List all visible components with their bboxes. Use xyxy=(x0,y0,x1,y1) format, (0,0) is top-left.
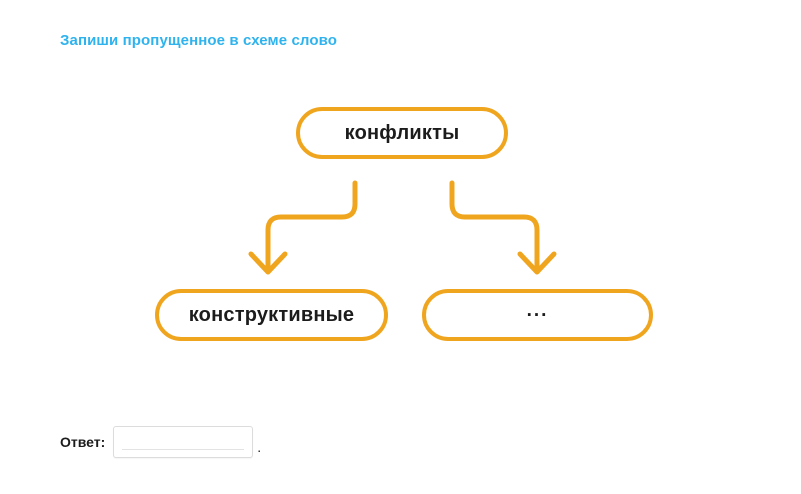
connector-arrows xyxy=(0,0,801,400)
scheme-diagram: конфликты конструктивные ... xyxy=(0,0,801,400)
diagram-node-root-label: конфликты xyxy=(345,122,460,145)
answer-input[interactable] xyxy=(114,427,252,457)
answer-label: Ответ: xyxy=(60,434,105,450)
arrow-path-left xyxy=(268,183,355,270)
diagram-node-child-2: ... xyxy=(422,289,653,341)
answer-row: Ответ: . xyxy=(60,425,261,459)
answer-input-wrapper[interactable] xyxy=(113,426,253,458)
diagram-node-root: конфликты xyxy=(296,107,508,159)
arrow-head-right xyxy=(520,254,554,272)
arrow-head-left xyxy=(251,254,285,272)
diagram-node-child-2-label: ... xyxy=(527,300,549,322)
diagram-node-child-1-label: конструктивные xyxy=(189,304,355,327)
diagram-node-child-1: конструктивные xyxy=(155,289,388,341)
answer-input-underline xyxy=(122,449,244,450)
arrow-path-right xyxy=(452,183,537,270)
answer-trailing-period: . xyxy=(257,439,261,459)
